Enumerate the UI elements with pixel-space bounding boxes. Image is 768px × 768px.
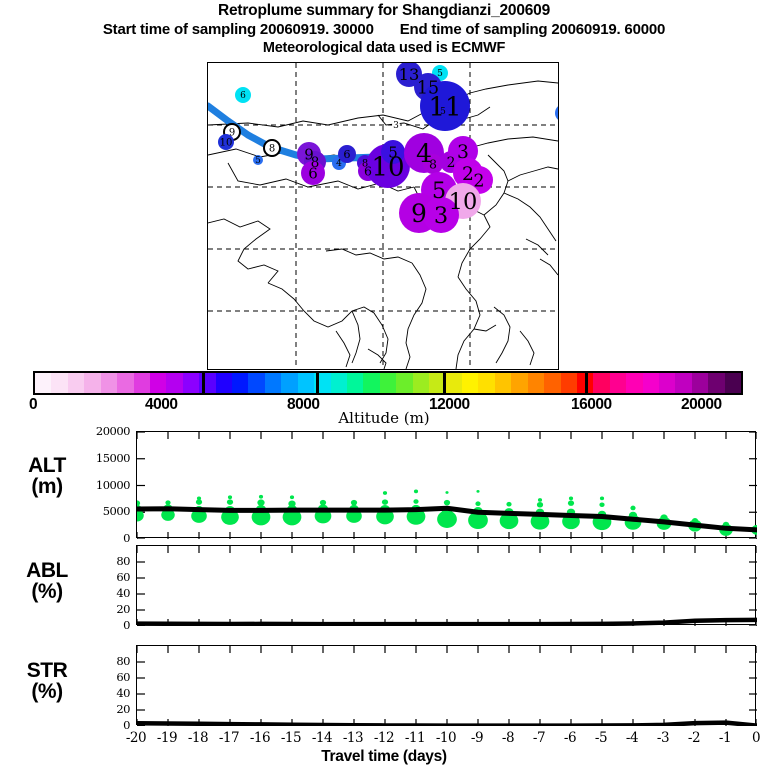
- alt-scatter-2-3: [197, 497, 201, 501]
- str-ytick-60: 60: [68, 670, 130, 684]
- alt-scatter-1-2: [165, 500, 170, 505]
- colorbar-segment-7: [150, 373, 166, 393]
- colorbar-segment-3: [84, 373, 100, 393]
- colorbar-segment-16: [298, 373, 314, 393]
- xtick--7: -7: [533, 730, 545, 746]
- colorbar-segment-21: [380, 373, 396, 393]
- colorbar-segment-0: [35, 373, 51, 393]
- colorbar-segment-20: [363, 373, 379, 393]
- plume-blob-label-14: 4: [336, 159, 342, 169]
- alt-scatter-10-3: [445, 491, 448, 494]
- colorbar-divider-1: [316, 371, 319, 395]
- xtick--17: -17: [219, 730, 239, 746]
- plume-blob-label-13: 6: [308, 164, 318, 182]
- alt-ytick-5000: 5000: [68, 504, 130, 518]
- xtick--5: -5: [595, 730, 607, 746]
- colorbar-segment-31: [544, 373, 560, 393]
- plume-blob-label-22: 2: [447, 155, 456, 171]
- alt-scatter-15-3: [600, 497, 604, 501]
- colorbar-segment-22: [396, 373, 412, 393]
- xtick--3: -3: [657, 730, 669, 746]
- alt-scatter-7-2: [351, 500, 357, 506]
- alt-scatter-6-2: [320, 500, 326, 506]
- str-ytick-40: 40: [68, 686, 130, 700]
- abl-ytick-60: 60: [68, 570, 130, 584]
- colorbar-segment-41: [708, 373, 724, 393]
- abl-ytick-40: 40: [68, 586, 130, 600]
- colorbar-segment-34: [593, 373, 609, 393]
- colorbar-gradient: [33, 371, 743, 395]
- xtick--12: -12: [374, 730, 394, 746]
- plume-blob-label-26: 5: [432, 178, 446, 204]
- xtick--4: -4: [626, 730, 638, 746]
- alt-scatter-14-3: [569, 497, 573, 501]
- alt-scatter-4-3: [259, 495, 263, 499]
- plume-blob-label-15: 6: [343, 148, 350, 161]
- colorbar-segment-35: [610, 373, 626, 393]
- plume-blob-label-0: 6: [240, 91, 246, 101]
- alt-scatter-14-2: [568, 500, 574, 506]
- altitude-colorbar[interactable]: [33, 371, 743, 395]
- alt-scatter-9-3: [414, 490, 418, 494]
- xtick--8: -8: [502, 730, 514, 746]
- plume-blob-label-21: 8: [429, 157, 437, 172]
- abl-plot-canvas: [137, 546, 757, 626]
- colorbar-segment-27: [478, 373, 494, 393]
- alt-scatter-15-2: [599, 502, 604, 507]
- colorbar-segment-26: [462, 373, 478, 393]
- xtick--10: -10: [436, 730, 456, 746]
- colorbar-segment-30: [528, 373, 544, 393]
- alt-scatter-3-2: [227, 499, 233, 505]
- colorbar-segment-15: [281, 373, 297, 393]
- str-ytick-20: 20: [68, 702, 130, 716]
- plume-blob-label-10: 5: [255, 156, 261, 166]
- alt-scatter-16-2: [630, 506, 635, 511]
- alt-panel[interactable]: [136, 431, 756, 538]
- alt-scatter-11-2: [475, 501, 480, 506]
- alt-ytick-15000: 15000: [68, 451, 130, 465]
- plume-blob-label-27: 10: [449, 189, 478, 215]
- xtick--6: -6: [564, 730, 576, 746]
- xtick--11: -11: [405, 730, 425, 746]
- plume-blob-label-9: 8: [269, 144, 275, 155]
- colorbar-segment-23: [413, 373, 429, 393]
- alt-scatter-3-3: [228, 495, 232, 499]
- alt-scatter-4-2: [257, 499, 264, 505]
- alt-scatter-13-3: [538, 498, 542, 502]
- colorbar-segment-18: [331, 373, 347, 393]
- figure-title: Retroplume summary for Shangdianzi_20060…: [0, 2, 768, 20]
- abl-ytick-0: 0: [68, 618, 130, 632]
- colorbar-segment-32: [561, 373, 577, 393]
- retroplume-map[interactable]: 6554131511910859864686105482322510933: [207, 62, 559, 370]
- colorbar-segment-29: [511, 373, 527, 393]
- alt-scatter-5-3: [290, 495, 294, 499]
- alt-scatter-9-2: [413, 499, 418, 504]
- end-time-text: End time of sampling 20060919. 60000: [400, 21, 665, 38]
- colorbar-segment-4: [101, 373, 117, 393]
- xtick--20: -20: [126, 730, 146, 746]
- alt-scatter-8-2: [382, 499, 388, 505]
- colorbar-segment-37: [643, 373, 659, 393]
- colorbar-segment-40: [692, 373, 708, 393]
- alt-plot-canvas: [137, 432, 757, 539]
- x-axis-title: Travel time (days): [0, 748, 768, 766]
- colorbar-segment-6: [134, 373, 150, 393]
- xtick--16: -16: [250, 730, 270, 746]
- start-time-text: Start time of sampling 20060919. 30000: [103, 21, 374, 38]
- x-tick-labels: -20-19-18-17-16-15-14-13-12-11-10-9-8-7-…: [0, 730, 768, 748]
- alt-ytick-10000: 10000: [68, 478, 130, 492]
- colorbar-segment-28: [495, 373, 511, 393]
- colorbar-segment-5: [117, 373, 133, 393]
- alt-scatter-10-2: [444, 500, 450, 506]
- plume-marker-labels: 6554131511910859864686105482322510933: [220, 65, 558, 229]
- colorbar-segment-2: [68, 373, 84, 393]
- alt-ytick-0: 0: [68, 531, 130, 545]
- plume-blob-label-28: 9: [411, 199, 427, 228]
- colorbar-segment-1: [51, 373, 67, 393]
- colorbar-segment-9: [183, 373, 199, 393]
- plume-blob-label-29: 3: [434, 203, 448, 229]
- abl-panel[interactable]: [136, 545, 756, 625]
- xtick--15: -15: [281, 730, 301, 746]
- colorbar-segment-39: [675, 373, 691, 393]
- xtick--13: -13: [343, 730, 363, 746]
- xtick--9: -9: [471, 730, 483, 746]
- colorbar-segment-14: [265, 373, 281, 393]
- alt-scatter-12-2: [506, 502, 511, 507]
- colorbar-segment-11: [216, 373, 232, 393]
- plume-blob-label-19: 5: [388, 143, 398, 161]
- xtick--1: -1: [719, 730, 731, 746]
- abl-ytick-80: 80: [68, 554, 130, 568]
- colorbar-segment-38: [659, 373, 675, 393]
- map-canvas: 6554131511910859864686105482322510933: [208, 63, 558, 369]
- colorbar-segment-36: [626, 373, 642, 393]
- map-gridlines: [208, 63, 558, 369]
- xtick--18: -18: [188, 730, 208, 746]
- str-panel[interactable]: [136, 645, 756, 725]
- alt-scatter-13-2: [537, 502, 543, 508]
- meteo-source-text: Meteorological data used is ECMWF: [0, 39, 768, 57]
- plume-blob-label-23: 3: [457, 142, 469, 163]
- plume-blob-label-24: 2: [462, 164, 474, 185]
- colorbar-segment-25: [446, 373, 462, 393]
- xtick--14: -14: [312, 730, 332, 746]
- alt-ytick-20000: 20000: [68, 424, 130, 438]
- xtick--19: -19: [157, 730, 177, 746]
- plume-blob-label-8: 10: [220, 138, 233, 149]
- xtick--2: -2: [688, 730, 700, 746]
- str-ytick-80: 80: [68, 654, 130, 668]
- colorbar-divider-2: [443, 371, 446, 395]
- abl-ytick-20: 20: [68, 602, 130, 616]
- plume-blob-label-30: 3: [393, 121, 399, 131]
- alt-scatter-0-2: [137, 500, 140, 506]
- alt-scatter-5-2: [288, 500, 295, 506]
- plume-blob-3: [555, 104, 558, 122]
- colorbar-segment-8: [166, 373, 182, 393]
- str-plot-canvas: [137, 646, 757, 726]
- alt-scatter-11-3: [476, 490, 479, 493]
- colorbar-segment-42: [725, 373, 741, 393]
- plume-blob-label-6: 11: [428, 92, 461, 122]
- title-block: Retroplume summary for Shangdianzi_20060…: [0, 2, 768, 57]
- colorbar-divider-3: [585, 371, 588, 395]
- colorbar-segment-12: [232, 373, 248, 393]
- colorbar-segment-19: [347, 373, 363, 393]
- sampling-times: Start time of sampling 20060919. 30000En…: [0, 20, 768, 39]
- alt-scatter-8-3: [383, 491, 387, 495]
- colorbar-divider-0: [202, 371, 205, 395]
- colorbar-segment-13: [248, 373, 264, 393]
- xtick-0: 0: [752, 730, 760, 746]
